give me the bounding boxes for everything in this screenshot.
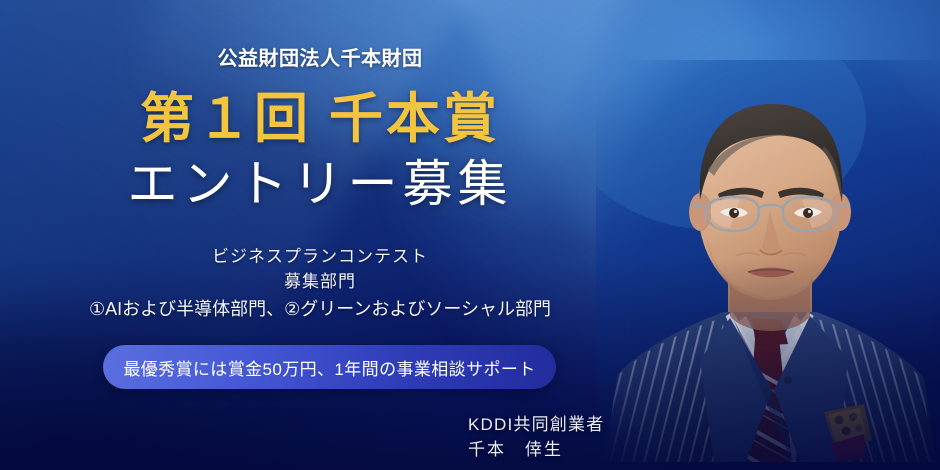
portrait-credit: KDDI共同創業者 千本 倖生: [468, 412, 604, 462]
subtitle-contest-type: ビジネスプランコンテスト: [0, 244, 640, 269]
page-title-white: エントリー募集: [0, 157, 640, 212]
prize-badge: 最優秀賞には賞金50万円、1年間の事業相談サポート: [103, 345, 556, 389]
subtitle-category-label: 募集部門: [0, 269, 640, 295]
page-title-gold: 第１回 千本賞: [0, 90, 640, 148]
subtitle-category-list: ①AIおよび半導体部門、②グリーンおよびソーシャル部門: [0, 295, 640, 323]
banner-content: 公益財団法人千本財団 第１回 千本賞 エントリー募集 ビジネスプランコンテスト …: [0, 0, 640, 470]
subtitle-block: ビジネスプランコンテスト 募集部門 ①AIおよび半導体部門、②グリーンおよびソー…: [0, 244, 640, 323]
organization-name: 公益財団法人千本財団: [0, 42, 640, 71]
credit-role: KDDI共同創業者: [468, 412, 604, 437]
promo-banner: 公益財団法人千本財団 第１回 千本賞 エントリー募集 ビジネスプランコンテスト …: [0, 0, 940, 470]
prize-badge-label: 最優秀賞には賞金50万円、1年間の事業相談サポート: [123, 355, 535, 380]
credit-name: 千本 倖生: [468, 437, 604, 462]
